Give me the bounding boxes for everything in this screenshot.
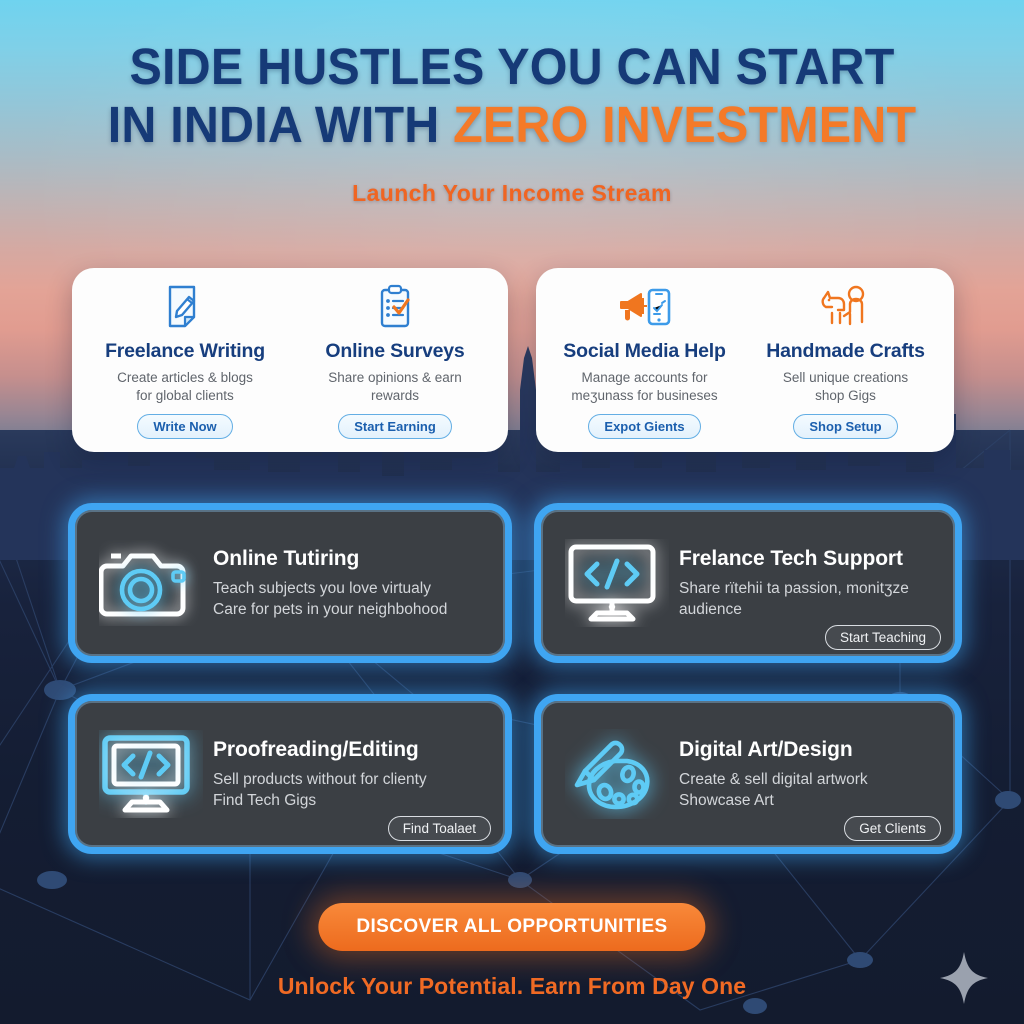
white-card-title: Handmade Crafts (766, 340, 924, 363)
white-card-online-surveys[interactable]: Online Surveys Share opinions & earn rew… (290, 268, 500, 452)
dark-card-body: Online Tutiring Teach subjects you love … (209, 547, 487, 620)
dark-card-freelance-tech-support[interactable]: Frelance Tech Support Share rïtehii ta p… (534, 503, 962, 663)
code-monitor-icon (93, 730, 209, 818)
dark-card-description: Share rïtehii ta passion, monitʒze audie… (679, 578, 937, 620)
camera-icon (93, 540, 209, 626)
dark-card-online-tutoring[interactable]: Online Tutiring Teach subjects you love … (68, 503, 512, 663)
person-dog-icon (818, 282, 874, 332)
pencil-document-icon (163, 282, 207, 332)
dark-card-description: Sell products without for clienty Find T… (213, 769, 487, 811)
title-line-1: SIDE HUSTLES YOU CAN START (26, 38, 999, 96)
dark-card-description: Teach subjects you love virtualy Care fo… (213, 578, 487, 620)
dark-card-body: Proofreading/Editing Sell products witho… (209, 738, 487, 811)
dark-card-body: Digital Art/Design Create & sell digital… (675, 738, 937, 811)
dark-card-title: Proofreading/Editing (213, 738, 487, 762)
megaphone-phone-icon (617, 282, 673, 332)
find-tools-button[interactable]: Find Toalaet (388, 816, 491, 841)
page-subtitle: Launch Your Income Stream (0, 180, 1024, 207)
white-card-description: Manage accounts for meʒunass for busines… (571, 369, 717, 405)
white-card-group-left: Freelance Writing Create articles & blog… (72, 268, 508, 452)
dark-card-title: Online Tutiring (213, 547, 487, 571)
white-card-title: Online Surveys (325, 340, 464, 363)
clipboard-checklist-icon (373, 282, 417, 332)
start-earning-button[interactable]: Start Earning (338, 414, 452, 439)
white-card-description: Create articles & blogs for global clien… (117, 369, 253, 405)
title-line-2-accent: ZERO INVESTMENT (453, 96, 916, 153)
white-card-title: Social Media Help (563, 340, 725, 363)
start-teaching-button[interactable]: Start Teaching (825, 625, 941, 650)
dark-card-digital-art-design[interactable]: Digital Art/Design Create & sell digital… (534, 694, 962, 854)
get-clients-button[interactable]: Get Clients (844, 816, 941, 841)
white-card-description: Sell unique creations shop Gigs (783, 369, 908, 405)
white-card-group-right: Social Media Help Manage accounts for me… (536, 268, 954, 452)
header: SIDE HUSTLES YOU CAN START IN INDIA WITH… (0, 38, 1024, 207)
infographic-canvas: SIDE HUSTLES YOU CAN START IN INDIA WITH… (0, 0, 1024, 1024)
white-card-description: Share opinions & earn rewards (328, 369, 462, 405)
white-card-title: Freelance Writing (105, 340, 265, 363)
discover-all-opportunities-button[interactable]: DISCOVER ALL OPPORTUNITIES (318, 903, 705, 951)
title-line-2-plain: IN INDIA WITH (108, 96, 453, 153)
paint-palette-brush-icon (559, 729, 675, 819)
white-card-handmade-crafts[interactable]: Handmade Crafts Sell unique creations sh… (745, 268, 946, 452)
shop-setup-button[interactable]: Shop Setup (793, 414, 897, 439)
white-cards-row: Freelance Writing Create articles & blog… (0, 268, 1024, 454)
dark-card-proofreading-editing[interactable]: Proofreading/Editing Sell products witho… (68, 694, 512, 854)
dark-card-description: Create & sell digital artwork Showcase A… (679, 769, 937, 811)
dark-card-body: Frelance Tech Support Share rïtehii ta p… (675, 547, 937, 620)
four-point-star-icon (938, 950, 990, 1006)
white-card-freelance-writing[interactable]: Freelance Writing Create articles & blog… (80, 268, 290, 452)
code-monitor-icon (559, 539, 675, 627)
page-title: SIDE HUSTLES YOU CAN START IN INDIA WITH… (26, 38, 999, 154)
dark-card-title: Frelance Tech Support (679, 547, 937, 571)
title-line-2: IN INDIA WITH ZERO INVESTMENT (26, 96, 999, 154)
white-card-social-media-help[interactable]: Social Media Help Manage accounts for me… (544, 268, 745, 452)
export-clients-button[interactable]: Expot Gients (588, 414, 700, 439)
write-now-button[interactable]: Write Now (137, 414, 232, 439)
footer-tagline: Unlock Your Potential. Earn From Day One (0, 973, 1024, 1000)
dark-card-title: Digital Art/Design (679, 738, 937, 762)
